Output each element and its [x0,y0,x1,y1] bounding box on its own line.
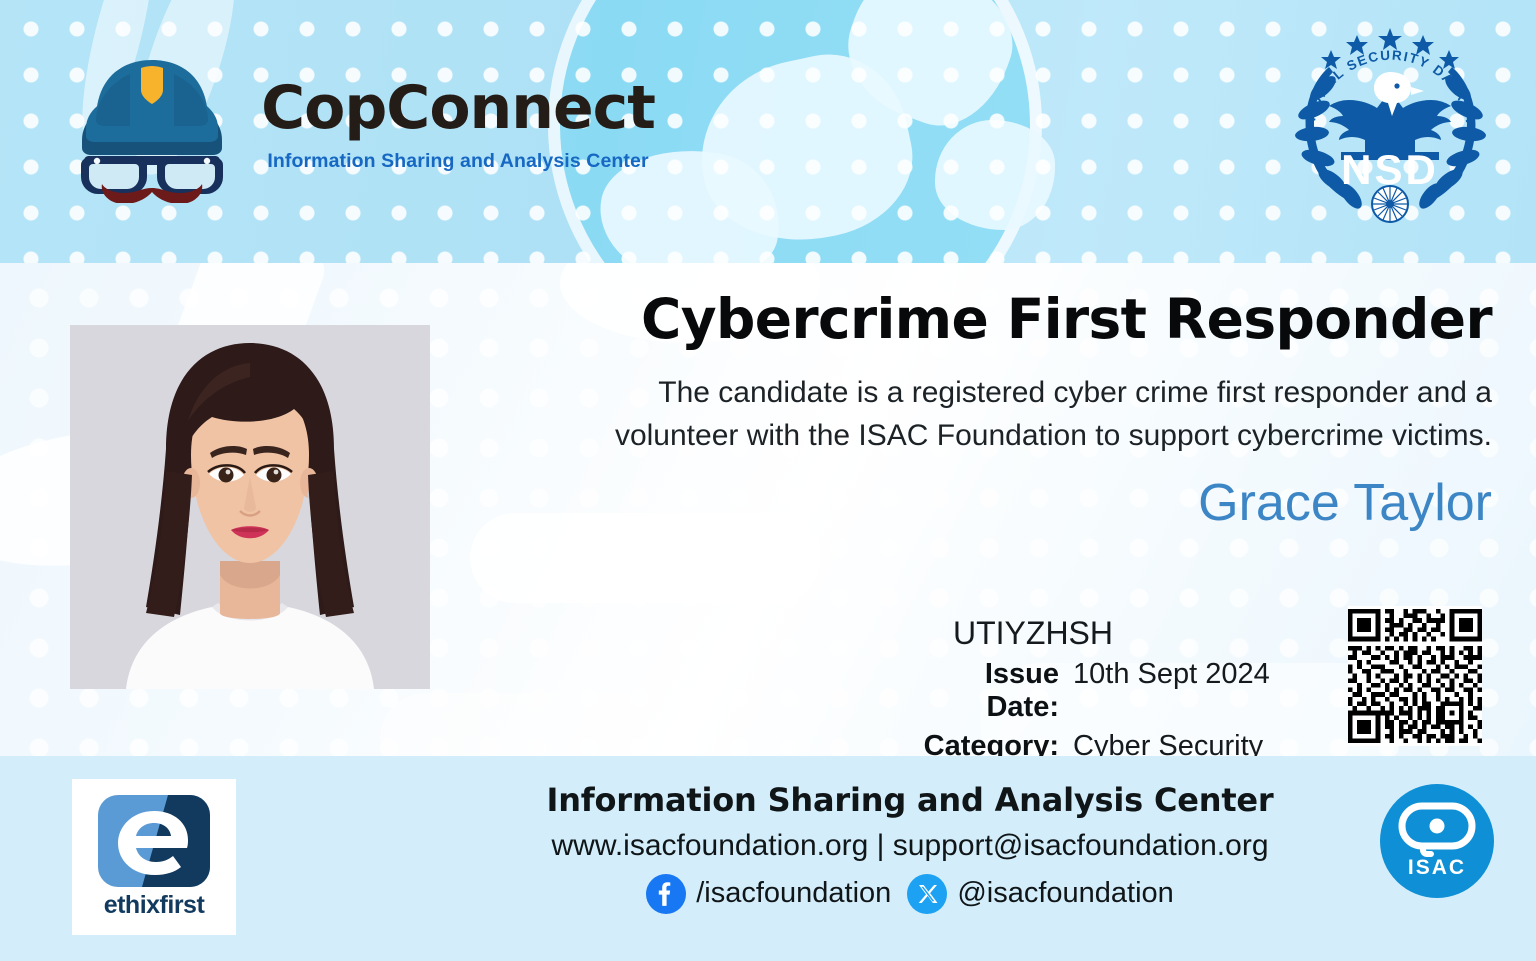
qr-code-icon[interactable] [1348,606,1482,746]
brand-title: CopConnect [248,78,668,138]
nsd-eagle-seal-icon: NATIONAL SECURITY DATABASE [1283,12,1498,227]
candidate-photo [70,325,430,689]
certificate-text-block: Cybercrime First Responder The candidate… [560,290,1492,529]
x-twitter-icon [907,874,947,914]
brand-block: CopConnect Information Sharing and Analy… [248,78,668,173]
footer-social-row: /isacfoundation @isacfoundation [430,874,1390,914]
isac-circle-logo-icon: ISAC [1380,784,1494,898]
brand-subtitle: Information Sharing and Analysis Center [248,150,668,173]
issue-date-row: Issue Date: 10th Sept 2024 [905,658,1325,724]
ethixfirst-e-icon: ethixfirst [72,779,236,935]
facebook-link[interactable]: /isacfoundation [646,874,891,914]
footer-contact-line[interactable]: www.isacfoundation.org | support@isacfou… [430,828,1390,864]
x-twitter-handle: @isacfoundation [957,877,1173,910]
credential-details: UTIYZHSH Issue Date: 10th Sept 2024 Cate… [905,615,1325,763]
issue-date-label: Issue Date: [905,658,1073,724]
svg-text:ISAC: ISAC [1408,856,1466,879]
facebook-icon [646,874,686,914]
certificate-card: CopConnect Information Sharing and Analy… [0,0,1536,961]
recipient-name: Grace Taylor [560,477,1492,529]
header-banner: CopConnect Information Sharing and Analy… [0,0,1536,263]
svg-text:ethixfirst: ethixfirst [104,891,206,919]
certificate-description: The candidate is a registered cyber crim… [560,372,1492,457]
footer-text-block: Information Sharing and Analysis Center … [430,782,1390,914]
footer-bar: ethixfirst Information Sharing and Analy… [0,756,1536,961]
footer-org-title: Information Sharing and Analysis Center [430,782,1390,819]
body-blob [380,693,680,756]
facebook-handle: /isacfoundation [696,877,891,910]
certificate-title: Cybercrime First Responder [560,290,1492,348]
x-twitter-link[interactable]: @isacfoundation [907,874,1173,914]
credential-id: UTIYZHSH [905,615,1325,652]
police-cap-glasses-mustache-icon [72,48,232,203]
issue-date-value: 10th Sept 2024 [1073,658,1270,691]
